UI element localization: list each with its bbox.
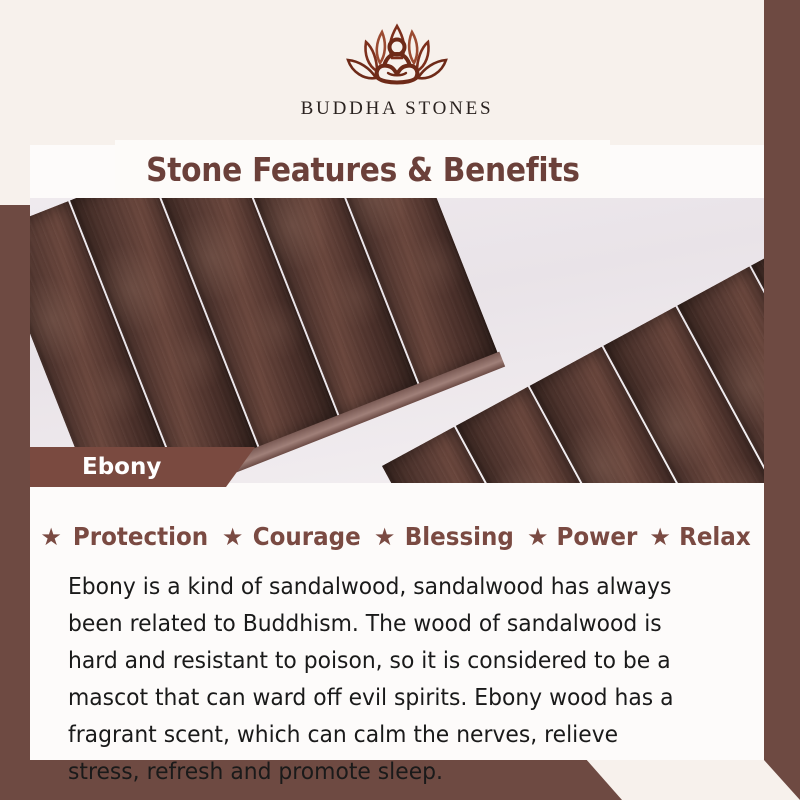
star-icon: ★ — [40, 525, 62, 549]
title-band: Stone Features & Benefits — [115, 140, 610, 198]
star-icon: ★ — [222, 525, 244, 549]
benefit-label: Power — [557, 522, 638, 551]
product-name-label: Ebony — [82, 454, 161, 480]
product-name-banner: Ebony — [30, 447, 255, 487]
star-icon: ★ — [649, 525, 671, 549]
benefit-label: Protection — [73, 522, 208, 551]
benefits-row: ★ Protection ★ Courage ★ Blessing ★ Powe… — [30, 522, 764, 551]
benefit-label: Courage — [253, 522, 361, 551]
benefit-item: ★ Courage — [218, 522, 370, 551]
poster-canvas: BUDDHA STONES Stone Features & Benefits … — [0, 0, 800, 800]
brand-header: BUDDHA STONES — [30, 0, 764, 145]
page-title: Stone Features & Benefits — [146, 150, 580, 189]
frame-left-bar — [0, 205, 30, 800]
product-photo — [30, 198, 764, 483]
benefit-item: ★ Power — [523, 522, 645, 551]
star-icon: ★ — [527, 525, 549, 549]
benefit-label: Relax — [679, 522, 751, 551]
benefit-item: ★ Blessing — [370, 522, 523, 551]
benefit-item: ★ Relax — [645, 522, 757, 551]
star-icon: ★ — [374, 525, 396, 549]
lotus-meditation-figure-logo-icon — [322, 16, 472, 96]
benefit-item: ★ Protection — [36, 522, 218, 551]
brand-name: BUDDHA STONES — [301, 98, 494, 120]
product-description: Ebony is a kind of sandalwood, sandalwoo… — [68, 568, 693, 790]
frame-right-bar — [764, 0, 800, 800]
benefit-label: Blessing — [405, 522, 514, 551]
